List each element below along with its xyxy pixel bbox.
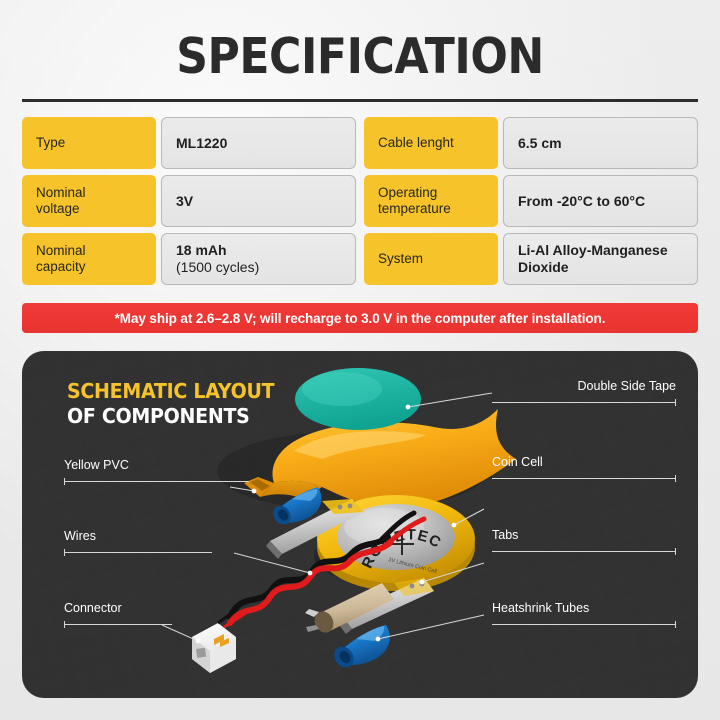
leader-connector xyxy=(162,625,198,641)
callout-connector: Connector xyxy=(64,601,172,616)
callout-wires: Wires xyxy=(64,529,212,544)
callout-label-yellow-pvc: Yellow PVC xyxy=(64,458,249,473)
callout-bar-coin-cell xyxy=(492,478,676,479)
schematic-heading-line1: SCHEMATIC LAYOUT xyxy=(67,379,274,404)
spec-value-type: ML1220 xyxy=(161,117,356,169)
leader-coin-cell xyxy=(454,509,484,525)
leader-tabs xyxy=(422,563,484,582)
leader-heatshrink-tubes xyxy=(378,615,484,639)
leader-dot-heatshrink xyxy=(376,637,381,642)
spec-value-nominal-capacity: 18 mAh (1500 cycles) xyxy=(161,233,356,285)
callout-tick-coin-cell xyxy=(675,475,676,482)
spec-column-right: Cable lenght 6.5 cm Operating temperatur… xyxy=(364,117,698,291)
callout-tick-wires xyxy=(64,549,65,556)
callout-label-double-side-tape: Double Side Tape xyxy=(492,379,676,394)
callout-tick-tabs xyxy=(675,548,676,555)
spec-row-nominal-capacity: Nominal capacity 18 mAh (1500 cycles) xyxy=(22,233,356,285)
shipping-voltage-note: *May ship at 2.6–2.8 V; will recharge to… xyxy=(22,303,698,333)
title-divider xyxy=(22,99,698,102)
callout-tick-yellow-pvc xyxy=(64,478,65,485)
spec-row-type: Type ML1220 xyxy=(22,117,356,169)
schematic-heading-line2: OF COMPONENTS xyxy=(67,404,274,429)
schematic-heading: SCHEMATIC LAYOUT OF COMPONENTS xyxy=(67,379,274,429)
leader-double-side-tape xyxy=(408,393,492,407)
spec-value-system-secondary: Dioxide xyxy=(518,259,668,276)
callout-bar-double-side-tape xyxy=(492,402,676,403)
callout-tick-double-side-tape xyxy=(675,399,676,406)
spec-value-system-primary: Li-Al Alloy-Manganese xyxy=(518,242,668,259)
callout-label-heatshrink-tubes: Heatshrink Tubes xyxy=(492,601,676,616)
callout-label-wires: Wires xyxy=(64,529,212,544)
leader-dot-wires xyxy=(308,571,313,576)
spec-value-system: Li-Al Alloy-Manganese Dioxide xyxy=(503,233,698,285)
spec-row-cable-length: Cable lenght 6.5 cm xyxy=(364,117,698,169)
leader-dot-tape xyxy=(406,405,411,410)
callout-heatshrink-tubes: Heatshrink Tubes xyxy=(492,601,676,616)
callout-tick-heatshrink-tubes xyxy=(675,621,676,628)
page-title: SPECIFICATION xyxy=(36,28,684,86)
spec-row-operating-temperature: Operating temperature From -20°C to 60°C xyxy=(364,175,698,227)
spec-key-nominal-voltage: Nominal voltage xyxy=(22,175,156,227)
callout-bar-tabs xyxy=(492,551,676,552)
leader-dot-tabs xyxy=(420,580,425,585)
callout-label-tabs: Tabs xyxy=(492,528,676,543)
callout-bar-yellow-pvc xyxy=(64,481,249,482)
spec-column-left: Type ML1220 Nominal voltage 3V Nominal c… xyxy=(22,117,356,291)
spec-key-operating-temperature: Operating temperature xyxy=(364,175,498,227)
spec-value-nominal-voltage: 3V xyxy=(161,175,356,227)
spec-row-nominal-voltage: Nominal voltage 3V xyxy=(22,175,356,227)
spec-value-operating-temperature: From -20°C to 60°C xyxy=(503,175,698,227)
callout-yellow-pvc: Yellow PVC xyxy=(64,458,249,473)
leader-yellow-pvc xyxy=(230,487,254,491)
callout-bar-heatshrink-tubes xyxy=(492,624,676,625)
spec-key-system: System xyxy=(364,233,498,285)
leader-dot-pvc xyxy=(252,489,257,494)
spec-row-system: System Li-Al Alloy-Manganese Dioxide xyxy=(364,233,698,285)
callout-bar-connector xyxy=(64,624,172,625)
spec-value-capacity-secondary: (1500 cycles) xyxy=(176,259,259,276)
leader-wires xyxy=(234,553,310,573)
spec-value-cable-length: 6.5 cm xyxy=(503,117,698,169)
leader-dot-coin-cell xyxy=(452,523,457,528)
schematic-panel: SCHEMATIC LAYOUT OF COMPONENTS xyxy=(22,351,698,698)
specification-page: SPECIFICATION Type ML1220 Nominal voltag… xyxy=(0,0,720,720)
callout-tick-connector xyxy=(64,621,65,628)
callout-double-side-tape: Double Side Tape xyxy=(492,379,676,394)
spec-key-type: Type xyxy=(22,117,156,169)
callout-label-connector: Connector xyxy=(64,601,172,616)
spec-key-nominal-capacity: Nominal capacity xyxy=(22,233,156,285)
spec-key-cable-length: Cable lenght xyxy=(364,117,498,169)
spec-value-capacity-primary: 18 mAh xyxy=(176,242,259,259)
callout-coin-cell: Coin Cell xyxy=(492,455,676,470)
leader-dot-connector xyxy=(196,639,201,644)
callout-bar-wires xyxy=(64,552,212,553)
callout-tabs: Tabs xyxy=(492,528,676,543)
callout-label-coin-cell: Coin Cell xyxy=(492,455,676,470)
